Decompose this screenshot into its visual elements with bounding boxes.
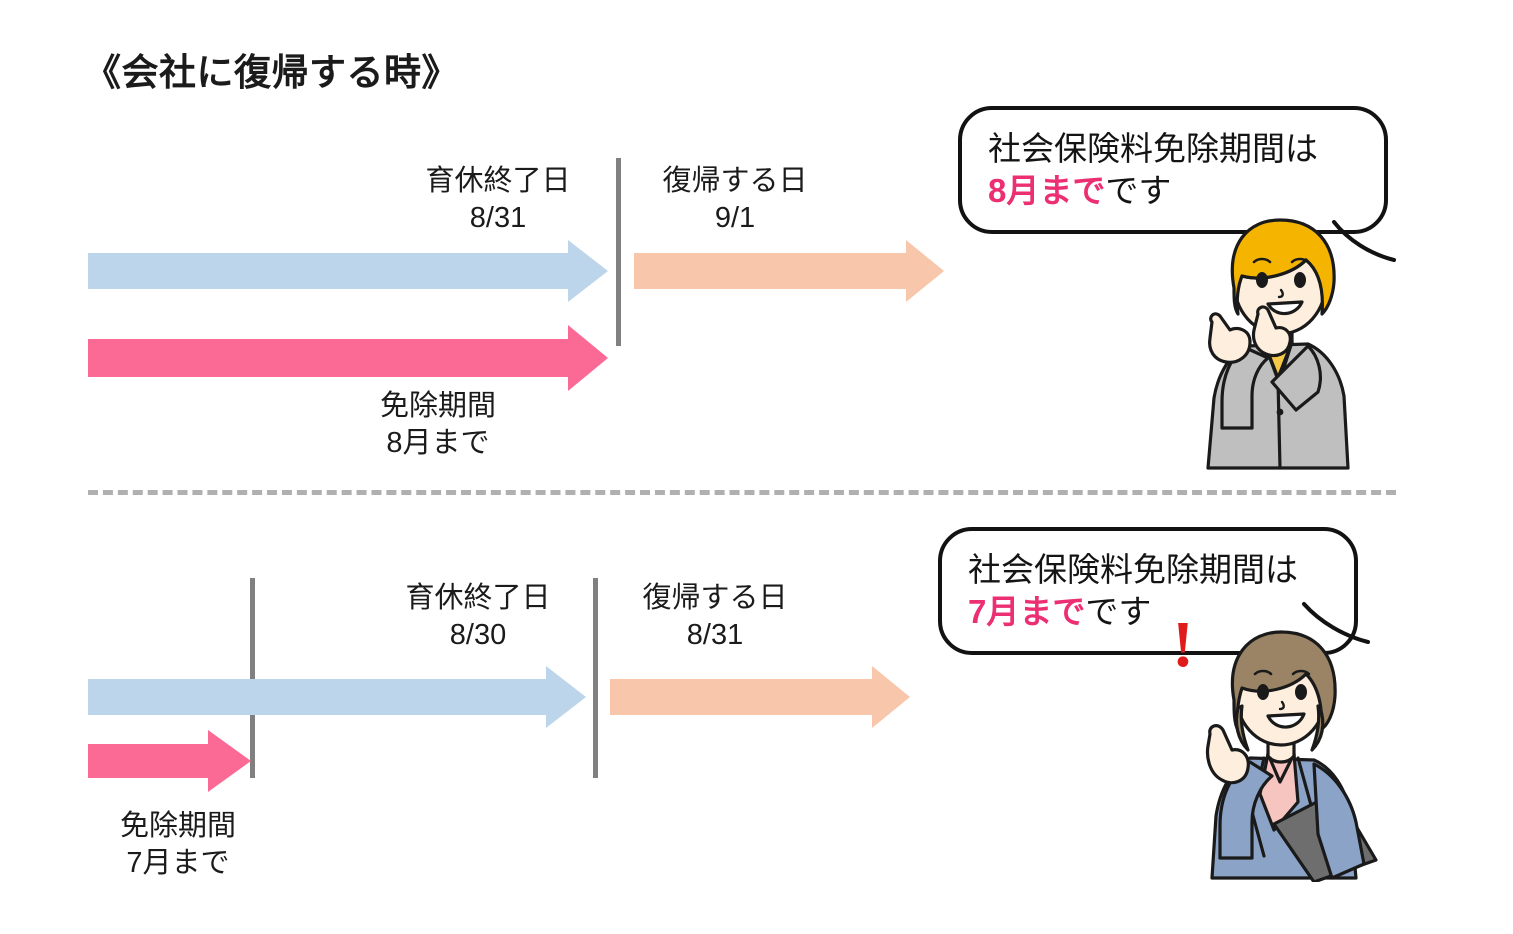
case-a-exemption-label: 免除期間 8月まで [348,388,528,462]
case-b-boundary-tick-2 [593,578,598,778]
case-a-bubble-rest: です [1105,172,1171,209]
case-b-return-label: 復帰する日 8/31 [625,580,805,654]
case-a-bubble-line1: 社会保険料免除期間は [988,128,1318,170]
case-a-return-label: 復帰する日 9/1 [645,163,825,237]
case-b-exemption-title: 免除期間 [120,810,236,842]
case-b-blue-arrow [88,666,586,728]
case-b-bubble-line1: 社会保険料免除期間は [968,549,1298,591]
exclamation-mark: ! [1172,612,1194,678]
case-b-return-date: 8/31 [625,617,805,654]
case-a-bubble-highlight: 8月まで [988,172,1105,209]
case-a-boundary-tick [616,158,621,346]
case-a-leave-end-date: 8/31 [408,200,588,237]
case-b-pink-arrow [88,730,251,792]
section-divider [88,490,1396,495]
case-a-illustration [1168,196,1390,478]
case-b-bubble-rest: です [1085,593,1151,630]
case-a-blue-arrow [88,240,608,302]
case-a-leave-end-label: 育休終了日 8/31 [408,163,588,237]
case-a-orange-arrow [634,240,944,302]
case-b-exemption-value: 7月まで [88,845,268,882]
case-b-leave-end-date: 8/30 [388,617,568,654]
page-title: 《会社に復帰する時》 [84,42,459,96]
case-b-exemption-label: 免除期間 7月まで [88,808,268,882]
case-b-return-title: 復帰する日 [642,582,787,614]
case-b-illustration [1168,616,1390,882]
case-b-bubble-highlight: 7月まで [968,593,1085,630]
case-a-return-date: 9/1 [645,200,825,237]
case-b-leave-end-title: 育休終了日 [405,582,550,614]
slide-canvas: 《会社に復帰する時》 育休終了日 8/31 復帰する日 9/1 免除期間 8月ま… [0,0,1513,934]
case-a-return-title: 復帰する日 [662,165,807,197]
case-b-leave-end-label: 育休終了日 8/30 [388,580,568,654]
case-a-pink-arrow [88,325,608,391]
case-a-leave-end-title: 育休終了日 [425,165,570,197]
case-a-exemption-title: 免除期間 [380,390,496,422]
case-b-orange-arrow [610,666,910,728]
case-a-exemption-value: 8月まで [348,425,528,462]
